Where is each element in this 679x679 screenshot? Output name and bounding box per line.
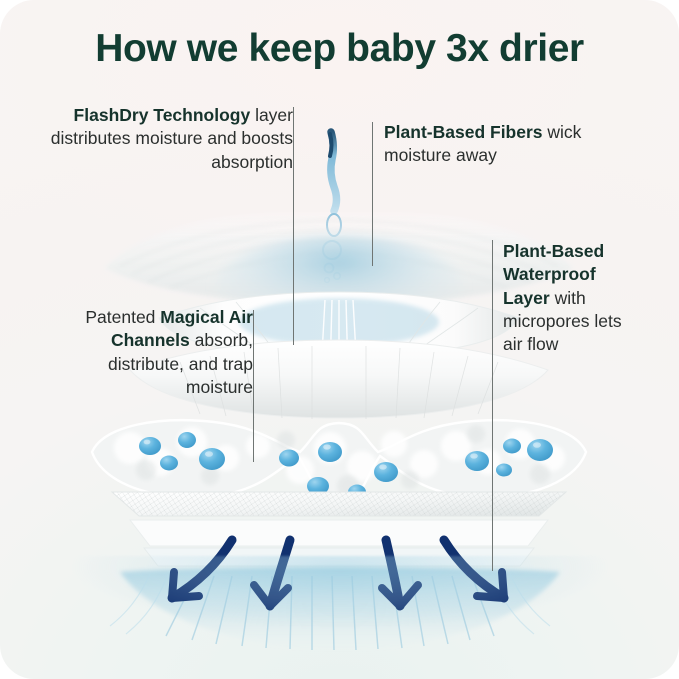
leader-line-waterproof <box>492 240 493 571</box>
callout-channels: Patented Magical Air Channels absorb, di… <box>60 306 253 399</box>
page-title: How we keep baby 3x drier <box>0 27 679 71</box>
callout-channels-prefix: Patented <box>85 307 160 327</box>
plant-based-waterproof-layer <box>112 492 566 566</box>
air-flow-plume <box>110 568 560 651</box>
callout-flashdry-title: FlashDry Technology <box>74 105 251 125</box>
callout-waterproof: Plant-Based Waterproof Layer with microp… <box>503 240 635 356</box>
callout-fibers-title: Plant-Based Fibers <box>384 122 543 142</box>
infographic-card: How we keep baby 3x drier <box>0 0 679 679</box>
leader-line-fibers <box>372 122 373 266</box>
callout-flashdry: FlashDry Technology layer distributes mo… <box>30 104 293 174</box>
callout-fibers: Plant-Based Fibers wick moisture away <box>384 121 614 168</box>
leader-line-flashdry <box>293 107 294 345</box>
leader-line-channels <box>253 310 254 462</box>
